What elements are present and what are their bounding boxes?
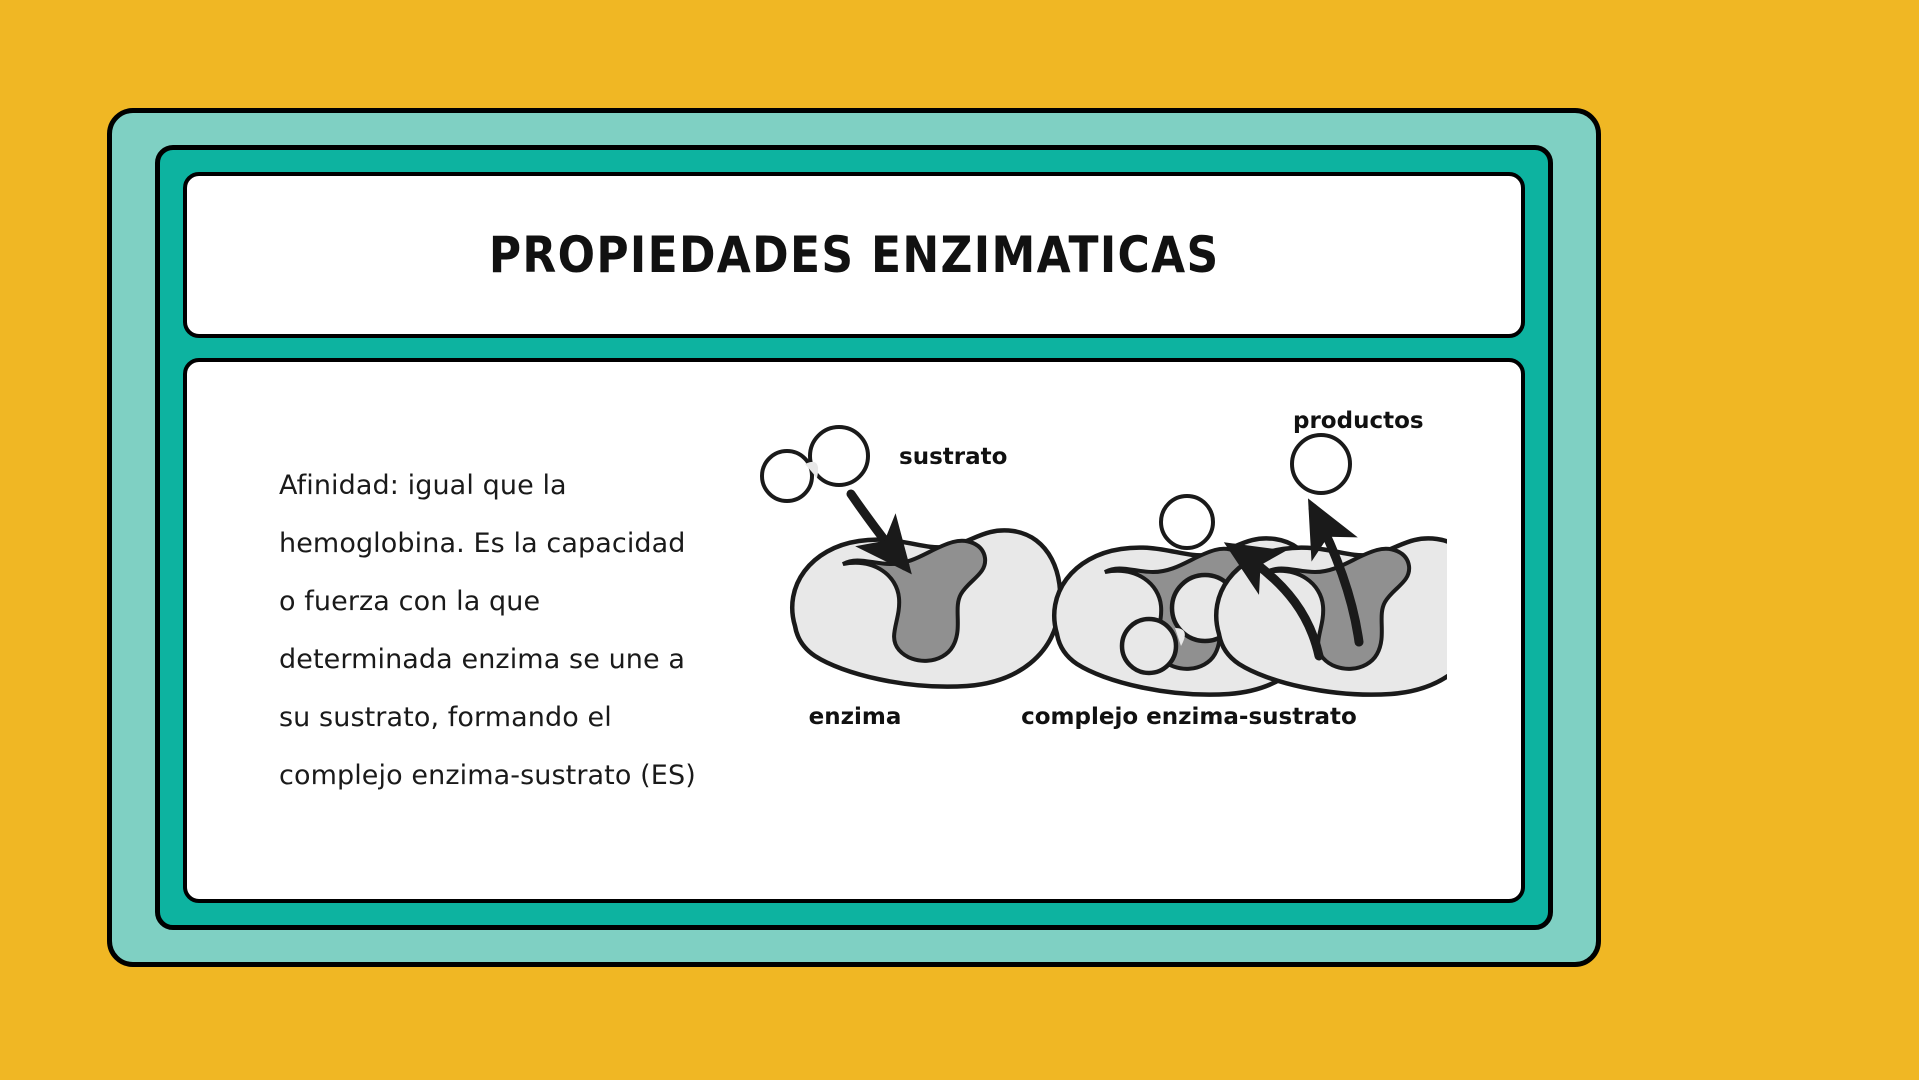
body-paragraph: Afinidad: igual que la hemoglobina. Es l… — [279, 457, 699, 805]
title-card: PROPIEDADES ENZIMATICAS — [183, 172, 1525, 338]
panel-binding: sustrato enzima — [762, 427, 1060, 730]
product-circle-right — [1292, 435, 1350, 493]
label-sustrato: sustrato — [899, 444, 1007, 470]
enzyme-substrate-diagram: sustrato enzima — [747, 398, 1447, 738]
label-productos: productos — [1293, 408, 1424, 434]
slide-outer-frame: PROPIEDADES ENZIMATICAS Afinidad: igual … — [107, 108, 1601, 967]
text-column: Afinidad: igual que la hemoglobina. Es l… — [187, 457, 747, 805]
slide-inner-frame: PROPIEDADES ENZIMATICAS Afinidad: igual … — [155, 145, 1553, 930]
label-enzima: enzima — [809, 704, 902, 730]
page-title: PROPIEDADES ENZIMATICAS — [489, 226, 1220, 284]
content-card: Afinidad: igual que la hemoglobina. Es l… — [183, 358, 1525, 903]
label-complejo: complejo enzima-sustrato — [1021, 704, 1357, 730]
product-circle-left — [1161, 496, 1213, 548]
enzyme-body — [792, 530, 1060, 686]
figure-column: sustrato enzima — [747, 362, 1521, 899]
